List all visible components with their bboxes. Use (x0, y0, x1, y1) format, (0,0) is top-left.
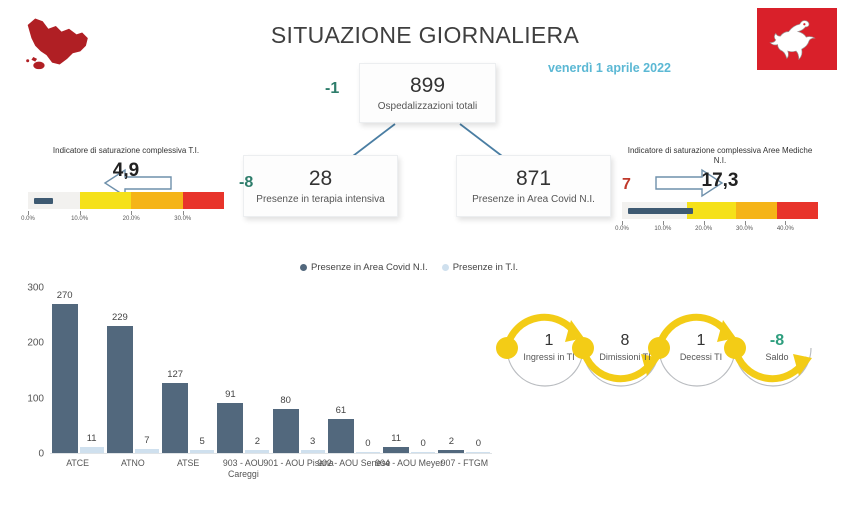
chart-bar-value: 11 (87, 433, 97, 444)
chart-bar-value: 61 (336, 405, 347, 416)
legend-item-0[interactable]: Presenze in Area Covid N.I. (300, 262, 428, 273)
flow-node-value: -8 (735, 332, 819, 350)
chart-y-axis: 0100200300 (12, 288, 46, 454)
legend-swatch-icon (300, 264, 307, 271)
card-total-value: 899 (410, 74, 445, 97)
gauge-left-title: Indicatore di saturazione complessiva T.… (28, 146, 224, 156)
flow-node-value: 1 (659, 332, 743, 350)
chart-bar-group[interactable]: 1275 (161, 287, 216, 453)
chart-bar-value: 80 (280, 395, 291, 406)
gauge-right-tick-label-3: 30.0% (736, 226, 753, 232)
chart-bar-value: 0 (476, 438, 481, 449)
gauge-right-tickmark-2 (704, 221, 705, 225)
chart-bar[interactable]: 11 (80, 447, 104, 453)
chart-bar-value: 5 (199, 436, 204, 447)
gauge-left-bar: 0.0%10.0%20.0%30.0% (28, 192, 224, 227)
chart-bar[interactable]: 2 (245, 450, 269, 453)
gauge-left-tickmark-0 (28, 211, 29, 215)
legend-item-1[interactable]: Presenze in T.I. (442, 262, 518, 273)
flow-node-label: Saldo (735, 352, 819, 362)
gauge-left-segment-1 (80, 192, 132, 209)
chart-bar-value: 91 (225, 389, 236, 400)
gauge-left-tick-label-0: 0.0% (21, 216, 35, 222)
gauge-left-tick-label-1: 10.0% (71, 216, 88, 222)
chart-bar-value: 3 (310, 436, 315, 447)
gauge-right-segment-2 (736, 202, 777, 219)
gauge-left-tickmark-2 (131, 211, 132, 215)
gauge-right-tick-label-1: 10.0% (654, 226, 671, 232)
chart-bar[interactable]: 91 (217, 403, 243, 453)
gauge-right-title: Indicatore di saturazione complessiva Ar… (622, 146, 818, 166)
gauge-left-segment-2 (131, 192, 183, 209)
chart-bar-value: 11 (391, 433, 401, 444)
card-covid-value: 871 (516, 167, 551, 190)
chart-bar[interactable]: 270 (52, 304, 78, 453)
card-covid-caption: Presenze in Area Covid N.I. (472, 194, 595, 205)
legend-label: Presenze in Area Covid N.I. (311, 262, 428, 273)
chart-bar-group[interactable]: 610 (326, 287, 381, 453)
gauge-right-needle (628, 208, 693, 214)
chart-x-axis: ATCEATNOATSE903 - AOU Careggi901 - AOU P… (50, 458, 492, 498)
chart-bar[interactable]: 2 (438, 450, 464, 453)
gauge-right-segment-3 (777, 202, 818, 219)
chart-bar-group[interactable]: 2297 (105, 287, 160, 453)
card-ti-caption: Presenze in terapia intensiva (256, 194, 384, 205)
delta-total: -1 (325, 80, 339, 98)
chart-x-label: 907 - FTGM (427, 458, 501, 469)
chart-bar[interactable]: 80 (273, 409, 299, 453)
delta-terapia-intensiva: -8 (239, 174, 253, 192)
chart-y-tick-1: 100 (27, 393, 44, 404)
gauge-left-tick-label-2: 20.0% (123, 216, 140, 222)
gauge-left-tick-label-3: 30.0% (174, 216, 191, 222)
gauge-saturazione-ti: Indicatore di saturazione complessiva T.… (28, 146, 224, 227)
gauge-right-tickmark-1 (663, 221, 664, 225)
chart-y-tick-3: 300 (27, 283, 44, 294)
gauge-right-tickmark-4 (785, 221, 786, 225)
chart-bar[interactable]: 127 (162, 383, 188, 453)
chart-bar-group[interactable]: 20 (437, 287, 492, 453)
page-title: SITUAZIONE GIORNALIERA (0, 22, 850, 49)
gauge-right-segment-1 (687, 202, 736, 219)
chart-bar-value: 2 (255, 436, 260, 447)
chart-bar[interactable]: 0 (411, 452, 435, 454)
card-total-hospitalizations[interactable]: 899 Ospedalizzazioni totali (359, 63, 496, 123)
chart-bar-value: 0 (365, 438, 370, 449)
chart-bar[interactable]: 7 (135, 449, 159, 453)
flow-node-3[interactable]: -8Saldo (735, 332, 819, 362)
chart-bar-group[interactable]: 27011 (50, 287, 105, 453)
gauge-right-tick-label-2: 20.0% (695, 226, 712, 232)
card-area-covid[interactable]: 871 Presenze in Area Covid N.I. (456, 155, 611, 217)
gauge-right-bar: 0.0%10.0%20.0%30.0%40.0% (622, 202, 818, 237)
chart-plot-area: 270112297127591280361011020 (50, 288, 492, 454)
gauge-right-tick-label-0: 0.0% (615, 226, 629, 232)
gauge-saturazione-aree-mediche: Indicatore di saturazione complessiva Ar… (622, 146, 818, 237)
date-label: venerdì 1 aprile 2022 (548, 61, 671, 75)
gauge-right-tickmark-3 (745, 221, 746, 225)
chart-bar-value: 2 (449, 436, 454, 447)
card-total-caption: Ospedalizzazioni totali (378, 101, 478, 112)
chart-bar[interactable]: 0 (466, 452, 490, 454)
flow-node-label: Dimissioni TI (583, 352, 667, 362)
flow-node-value: 8 (583, 332, 667, 350)
chart-bar-value: 229 (112, 312, 128, 323)
bar-chart: 0100200300 270112297127591280361011020 A… (12, 288, 492, 468)
gauge-left-segment-3 (183, 192, 224, 209)
gauge-left-value: 4,9 (28, 160, 224, 182)
chart-legend: Presenze in Area Covid N.I.Presenze in T… (300, 262, 518, 273)
chart-bar[interactable]: 229 (107, 326, 133, 453)
gauge-right-tickmark-0 (622, 221, 623, 225)
flow-node-0[interactable]: 1Ingressi in TI (507, 332, 591, 362)
legend-swatch-icon (442, 264, 449, 271)
flow-node-label: Decessi TI (659, 352, 743, 362)
gauge-right-value: 17,3 (622, 170, 818, 192)
flow-node-1[interactable]: 8Dimissioni TI (583, 332, 667, 362)
chart-bar-group[interactable]: 110 (382, 287, 437, 453)
flow-node-label: Ingressi in TI (507, 352, 591, 362)
ti-flow-diagram: 1Ingressi in TI8Dimissioni TI1Decessi TI… (485, 296, 845, 401)
chart-bar-value: 7 (144, 435, 149, 446)
chart-bar[interactable]: 61 (328, 419, 354, 453)
gauge-left-tickmark-3 (183, 211, 184, 215)
chart-bar[interactable]: 5 (190, 450, 214, 453)
gauge-right-tick-label-4: 40.0% (777, 226, 794, 232)
chart-bar-value: 270 (57, 290, 73, 301)
flow-node-2[interactable]: 1Decessi TI (659, 332, 743, 362)
chart-y-tick-2: 200 (27, 338, 44, 349)
chart-bar[interactable]: 11 (383, 447, 409, 453)
gauge-left-tickmark-1 (80, 211, 81, 215)
chart-bar-value: 0 (420, 438, 425, 449)
gauge-left-needle (34, 198, 53, 204)
chart-bar-group[interactable]: 912 (216, 287, 271, 453)
card-terapia-intensiva[interactable]: 28 Presenze in terapia intensiva (243, 155, 398, 217)
chart-bar-value: 127 (167, 369, 183, 380)
chart-bar[interactable]: 0 (356, 452, 380, 454)
chart-bar[interactable]: 3 (301, 450, 325, 453)
dashboard-root: SITUAZIONE GIORNALIERA venerdì 1 aprile … (0, 0, 850, 519)
flow-node-value: 1 (507, 332, 591, 350)
legend-label: Presenze in T.I. (453, 262, 518, 273)
card-ti-value: 28 (309, 167, 332, 190)
chart-bar-group[interactable]: 803 (271, 287, 326, 453)
